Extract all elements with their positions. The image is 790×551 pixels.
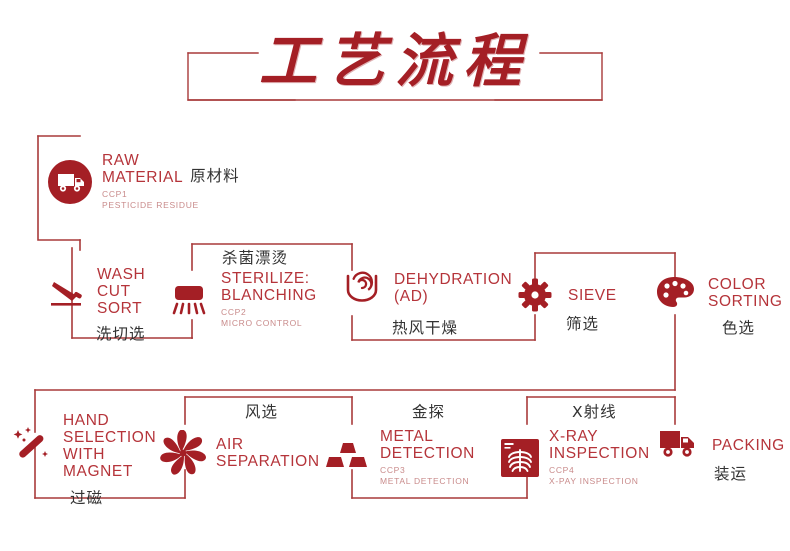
- spiral-basket-icon: [342, 268, 384, 308]
- pinwheel-fan-icon: [160, 430, 206, 476]
- ccp-note: METAL DETECTION: [380, 476, 475, 487]
- heater-icon: [168, 280, 210, 320]
- magic-wand-icon: [12, 425, 54, 467]
- ccp-code: CCP2: [221, 307, 317, 318]
- node-chinese-label: 原材料: [190, 167, 240, 186]
- node-english-label: STERILIZE: BLANCHING: [221, 270, 317, 304]
- node-english-label: X-RAY INSPECTION: [549, 428, 650, 462]
- node-sieve[interactable]: SIEVE: [518, 278, 617, 312]
- process-flow-diagram: 工艺流程 RAW MATERIAL 原材料 CCP1: [0, 0, 790, 551]
- node-chinese-above-metal: 金探: [412, 400, 445, 422]
- ccp-code: CCP4: [549, 465, 650, 476]
- node-chinese-below-dehydration: 热风干燥: [392, 316, 458, 338]
- node-metal-detection[interactable]: METAL DETECTION CCP3 METAL DETECTION: [326, 428, 475, 487]
- node-chinese-above-air: 风选: [245, 400, 278, 422]
- ccp-code: CCP1: [102, 189, 240, 200]
- node-raw-material[interactable]: RAW MATERIAL 原材料 CCP1 PESTICIDE RESIDUE: [47, 152, 240, 211]
- node-sterilize-blanching[interactable]: STERILIZE: BLANCHING CCP2 MICRO CONTROL: [168, 270, 317, 329]
- gear-icon: [518, 278, 552, 312]
- node-hand-selection-magnet[interactable]: HAND SELECTION WITH MAGNET: [12, 412, 156, 480]
- node-chinese-below-packing: 装运: [714, 462, 747, 484]
- node-english-label: SIEVE: [568, 287, 617, 304]
- truck-circle-icon: [47, 159, 93, 205]
- node-english-label: METAL DETECTION: [380, 428, 475, 462]
- node-chinese-below-color-sorting: 色选: [722, 316, 755, 338]
- node-wash-cut-sort[interactable]: WASH CUT SORT: [48, 266, 145, 317]
- node-chinese-below-sieve: 筛选: [566, 312, 599, 334]
- node-chinese-above-xray: X射线: [572, 400, 617, 422]
- node-packing[interactable]: PACKING: [658, 428, 785, 462]
- node-english-label: HAND SELECTION WITH MAGNET: [63, 412, 156, 480]
- node-dehydration[interactable]: DEHYDRATION (AD): [342, 268, 512, 308]
- ccp-code: CCP3: [380, 465, 475, 476]
- xray-ribcage-icon: [500, 438, 540, 478]
- node-chinese-above-sterilize: 杀菌漂烫: [222, 246, 288, 268]
- page-title: 工艺流程: [0, 24, 790, 98]
- node-x-ray-inspection[interactable]: X-RAY INSPECTION CCP4 X-PAY INSPECTION: [500, 428, 650, 487]
- node-english-label: RAW MATERIAL: [102, 152, 183, 186]
- node-chinese-below-magnet: 过磁: [70, 486, 103, 508]
- node-english-label: DEHYDRATION (AD): [394, 271, 512, 305]
- node-english-label: PACKING: [712, 437, 785, 454]
- knife-icon: [48, 272, 88, 312]
- node-chinese-below-wash: 洗切选: [96, 322, 146, 344]
- title-frame: 工艺流程: [0, 18, 790, 114]
- node-color-sorting[interactable]: COLOR SORTING: [656, 276, 783, 310]
- node-english-label: WASH CUT SORT: [97, 266, 145, 317]
- node-english-label: AIR SEPARATION: [216, 436, 320, 470]
- node-english-label: COLOR SORTING: [708, 276, 783, 310]
- node-air-separation[interactable]: AIR SEPARATION: [160, 430, 320, 476]
- palette-icon: [656, 276, 696, 310]
- ccp-note: MICRO CONTROL: [221, 318, 317, 329]
- truck-icon: [658, 428, 702, 462]
- ccp-note: X-PAY INSPECTION: [549, 476, 650, 487]
- gold-bars-icon: [326, 440, 370, 476]
- ccp-note: PESTICIDE RESIDUE: [102, 200, 240, 211]
